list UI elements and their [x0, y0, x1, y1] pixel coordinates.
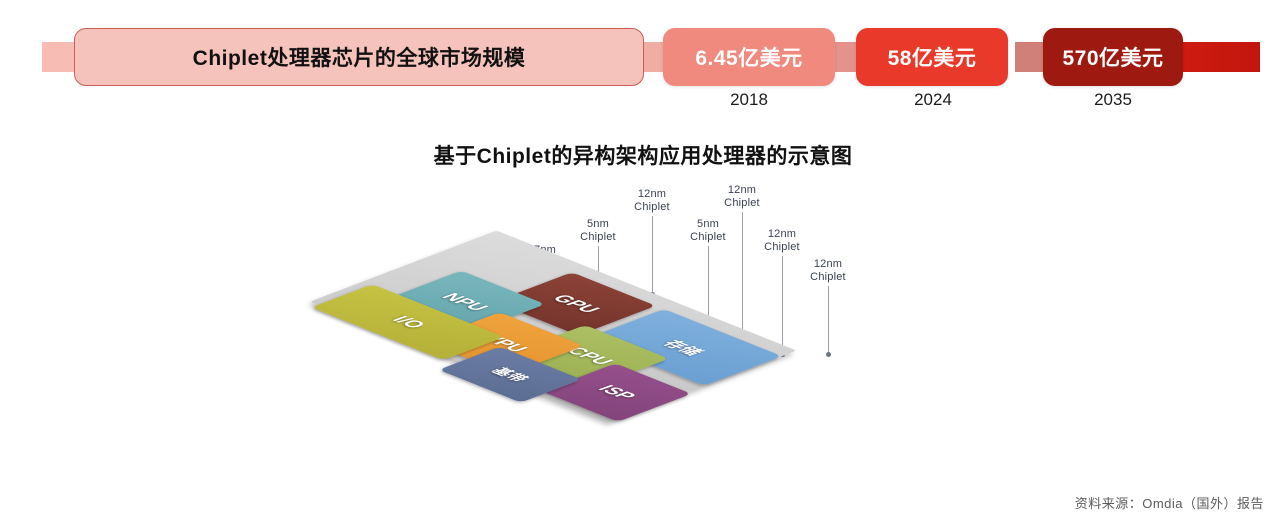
- chiplet-label-isp: ISP: [592, 383, 641, 402]
- callout-text-3: 12nm Chiplet: [612, 188, 692, 214]
- milestone-value-label-2: 570亿美元: [1062, 42, 1163, 72]
- diagram-subtitle: 基于Chiplet的异构架构应用处理器的示意图: [0, 140, 1286, 170]
- milestone-year-2: 2035: [1023, 90, 1203, 110]
- chip-isometric-plane: GPU 存储 NPU CPU VPU ISP I/O 基带: [341, 241, 769, 409]
- chip-package: GPU 存储 NPU CPU VPU ISP I/O 基带: [440, 235, 880, 435]
- callout-node-2: 5nm: [587, 218, 609, 230]
- callout-kind-3: Chiplet: [634, 201, 670, 213]
- milestone-year-0: 2018: [659, 90, 839, 110]
- milestone-value-label-0: 6.45亿美元: [695, 42, 802, 72]
- milestone-value-2018: 6.45亿美元: [663, 28, 835, 86]
- callout-text-5: 12nm Chiplet: [702, 184, 782, 210]
- timeline-title-box: Chiplet处理器芯片的全球市场规模: [74, 28, 644, 86]
- chiplet-label-io: I/O: [386, 314, 430, 331]
- callout-kind-5: Chiplet: [724, 197, 760, 209]
- callout-node-4: 5nm: [697, 218, 719, 230]
- timeline-title-text: Chiplet处理器芯片的全球市场规模: [193, 42, 526, 72]
- milestone-value-label-1: 58亿美元: [888, 42, 977, 72]
- chiplet-label-memory: 存储: [658, 337, 711, 357]
- chiplet-label-npu: NPU: [436, 291, 494, 313]
- milestone-value-2035: 570亿美元: [1043, 28, 1183, 86]
- source-attribution: 资料来源：Omdia（国外）报告: [1075, 493, 1264, 512]
- chiplet-label-gpu: GPU: [546, 293, 605, 315]
- milestone-value-2024: 58亿美元: [856, 28, 1008, 86]
- market-size-timeline: Chiplet处理器芯片的全球市场规模 6.45亿美元 58亿美元 570亿美元…: [0, 28, 1286, 86]
- chiplet-label-baseband: 基带: [485, 365, 535, 384]
- callout-node-3: 12nm: [638, 188, 666, 200]
- callout-node-5: 12nm: [728, 184, 756, 196]
- milestone-year-1: 2024: [843, 90, 1023, 110]
- chiplet-architecture-diagram: 12nm Chiplet 7nm Chiplet 5nm Chiplet 12n…: [440, 180, 900, 440]
- timeline-connector-right: [1170, 42, 1260, 72]
